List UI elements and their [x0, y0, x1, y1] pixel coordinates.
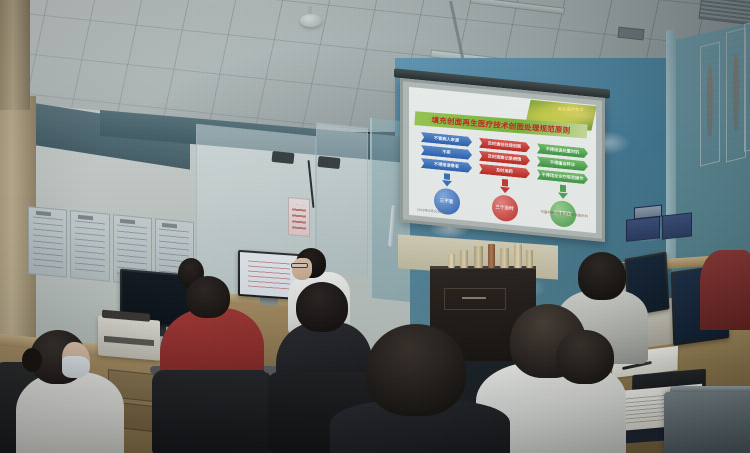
- face-mask-icon: [62, 356, 90, 378]
- reagent-bottle: [500, 248, 509, 268]
- document-header-line: [78, 214, 93, 219]
- document-header-line: [36, 210, 51, 215]
- document-header-line: [162, 223, 177, 228]
- slide-summary-circle: 三个及时: [492, 194, 518, 223]
- slide-item: 不得擅自转诊: [537, 156, 588, 171]
- arrow-down-icon: [500, 187, 510, 194]
- chair-red[interactable]: [152, 370, 272, 453]
- left-wall-column-top: [0, 0, 30, 110]
- anatomy-figure-icon: [733, 53, 739, 131]
- reagent-bottle: [474, 246, 483, 268]
- document-header-line: [120, 219, 135, 224]
- arrow-stem: [444, 173, 450, 180]
- desktop-printer[interactable]: [98, 315, 160, 360]
- binder-2: [662, 212, 692, 239]
- arrow-down-icon: [558, 192, 568, 199]
- floor-printer[interactable]: [664, 392, 750, 453]
- document-sheet: [28, 206, 67, 278]
- red-notice-poster: [288, 197, 310, 237]
- cabinet-handle-icon[interactable]: [462, 297, 486, 299]
- arrow-down-icon: [442, 180, 452, 187]
- slide-item: 不得推诿患者: [421, 158, 472, 173]
- presenter-face: [292, 258, 312, 280]
- glasses-icon: [291, 263, 308, 268]
- printer-paper-slot: [104, 336, 154, 346]
- projection-screen: 再生医疗技术 填充创面再生医疗技术创面处理规范原则 不管病人来源 不拒 不得推诿…: [400, 78, 605, 242]
- red-shirt-head: [186, 276, 230, 318]
- slide-item: 不得延误处置时机: [537, 143, 588, 158]
- anatomy-figure-icon: [707, 65, 713, 137]
- reagent-bottle: [514, 244, 522, 268]
- slide-item: 不得违反诊疗规范操作: [537, 169, 588, 184]
- binder-1: [626, 216, 660, 242]
- hair-bun: [22, 348, 42, 372]
- slide-column-blue: 不管病人来源 不拒 不得推诿患者 三不宣: [421, 132, 472, 218]
- screen-surface: 再生医疗技术 填充创面再生医疗技术创面处理规范原则 不管病人来源 不拒 不得推诿…: [400, 78, 605, 242]
- slide-item: 及时观察记录病情: [479, 151, 530, 166]
- photo-scene: 再生医疗技术 填充创面再生医疗技术创面处理规范原则 不管病人来源 不拒 不得推诿…: [0, 0, 750, 453]
- cabinet-drawer[interactable]: [444, 288, 506, 310]
- slide-item: 及时清创处理创面: [479, 138, 530, 153]
- slide-item: 不拒: [421, 145, 472, 160]
- slide-column-red: 及时清创处理创面 及时观察记录病情 及时用药 三个及时: [479, 138, 530, 224]
- monitor-document-content: [248, 260, 290, 290]
- anatomy-chart-1: [700, 42, 720, 167]
- anatomy-chart-3: [744, 20, 750, 152]
- slide-item: 及时用药: [479, 164, 530, 179]
- partition-bracket: [317, 156, 340, 169]
- lab-coat-torso: [16, 372, 124, 453]
- reagent-bottle: [448, 254, 455, 268]
- slide-photo-caption: 再生医疗技术: [558, 106, 585, 113]
- grey-shirt-head: [578, 252, 626, 300]
- document-sheet: [70, 210, 109, 282]
- anatomy-chart-2: [726, 28, 746, 163]
- reagent-bottle: [526, 250, 533, 268]
- reagent-bottle: [460, 250, 468, 268]
- person-corner-right: [700, 250, 750, 330]
- partition-bracket: [271, 151, 294, 164]
- man-front-right-head: [556, 330, 614, 384]
- presentation-slide: 再生医疗技术 填充创面再生医疗技术创面处理规范原则 不管病人来源 不拒 不得推诿…: [409, 87, 596, 233]
- dark-top-head: [296, 282, 348, 332]
- slide-item: 不管病人来源: [421, 132, 472, 147]
- arrow-stem: [560, 185, 566, 193]
- arrow-stem: [502, 179, 508, 187]
- reagent-bottle: [488, 244, 495, 268]
- front-center-head: [366, 324, 466, 416]
